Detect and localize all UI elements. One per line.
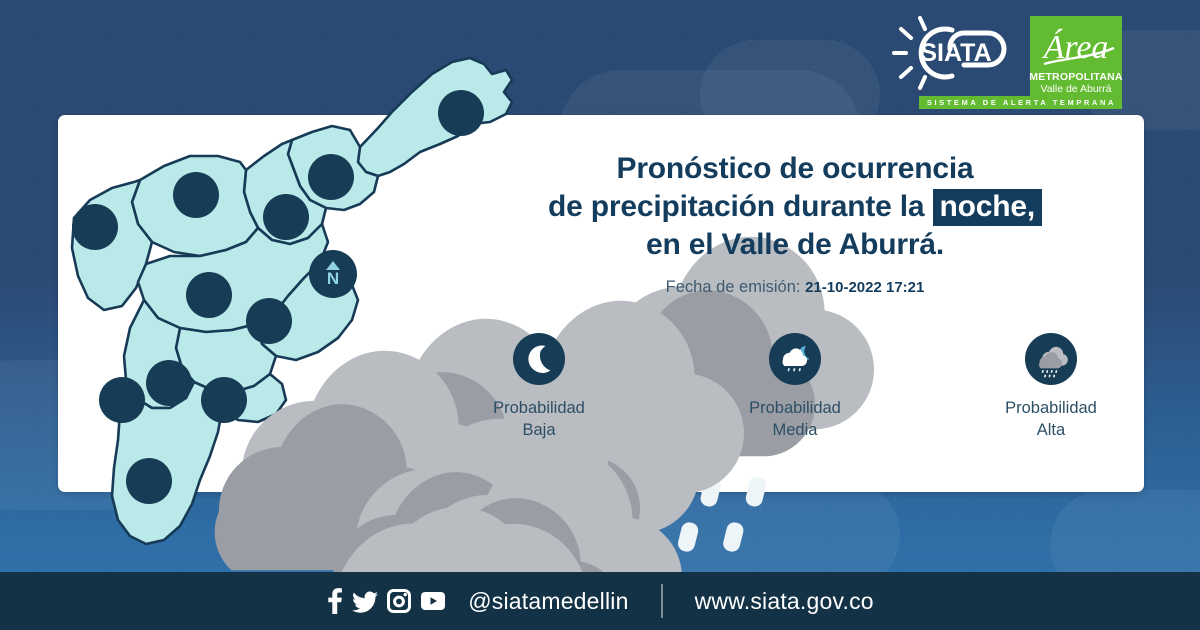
legend-label-alta: Probabilidad Alta — [1005, 397, 1097, 441]
map-marker-caldas[interactable] — [126, 458, 172, 504]
legend-label-alta-line1: Probabilidad — [1005, 397, 1097, 419]
cloud-heavy-rain-icon — [1025, 333, 1077, 385]
facebook-icon — [326, 588, 343, 614]
twitter-icon — [352, 588, 378, 614]
legend-icon-alta — [1025, 333, 1077, 385]
footer-content: @siatamedellin www.siata.gov.co — [326, 584, 874, 618]
area-script-icon: Área — [1030, 18, 1122, 72]
youtube-icon — [420, 591, 446, 611]
svg-text:Área: Área — [1042, 29, 1109, 66]
footer-bar: @siatamedellin www.siata.gov.co — [0, 572, 1200, 630]
area-logo-line1: METROPOLITANA — [1029, 72, 1122, 83]
footer-divider — [661, 584, 663, 618]
logo-group: SIATA Área METROPOLITANA Valle de Aburrá — [892, 16, 1122, 100]
emission-date: Fecha de emisión: 21-10-2022 17:21 — [470, 278, 1120, 297]
map-marker-envigado[interactable] — [246, 298, 292, 344]
svg-text:SIATA: SIATA — [920, 39, 991, 67]
legend-label-media: Probabilidad Media — [749, 397, 841, 441]
legend-icon-media — [769, 333, 821, 385]
legend-label-baja-line1: Probabilidad — [493, 397, 585, 419]
title-line-2-text: de precipitación durante la — [548, 190, 924, 223]
probability-legend: Probabilidad Baja Probabilidad Media — [470, 333, 1120, 441]
twitter-link[interactable] — [352, 588, 378, 614]
moon-icon — [513, 333, 565, 385]
legend-item-baja: Probabilidad Baja — [470, 333, 608, 441]
map-marker-barbosa[interactable] — [438, 90, 484, 136]
title-highlight-noche: noche, — [933, 189, 1042, 226]
instagram-link[interactable] — [387, 589, 411, 613]
emission-date-label: Fecha de emisión: — [666, 278, 801, 296]
facebook-link[interactable] — [326, 588, 343, 614]
area-metropolitana-logo: Área METROPOLITANA Valle de Aburrá — [1030, 16, 1122, 100]
instagram-icon — [387, 589, 411, 613]
compass-label: N — [327, 271, 339, 287]
map-marker-la-estrella[interactable] — [99, 377, 145, 423]
map-marker-medellin[interactable] — [186, 272, 232, 318]
forecast-panel: Pronóstico de ocurrencia de precipitació… — [470, 150, 1120, 441]
youtube-link[interactable] — [420, 591, 446, 611]
siata-logo-icon: SIATA — [892, 16, 1020, 90]
page-title: Pronóstico de ocurrencia de precipitació… — [470, 150, 1120, 264]
legend-label-baja-line2: Baja — [493, 419, 585, 441]
legend-item-media: Probabilidad Media — [726, 333, 864, 441]
title-line-2: de precipitación durante la noche, — [470, 188, 1120, 226]
title-line-1: Pronóstico de ocurrencia — [470, 150, 1120, 188]
social-links — [326, 588, 446, 614]
cloud-moon-rain-icon — [769, 333, 821, 385]
legend-icon-baja — [513, 333, 565, 385]
legend-label-baja: Probabilidad Baja — [493, 397, 585, 441]
area-logo-line2: Valle de Aburrá — [1040, 83, 1111, 95]
map-marker-oeste[interactable] — [72, 204, 118, 250]
siata-logo: SIATA — [892, 16, 1020, 90]
website-url[interactable]: www.siata.gov.co — [695, 588, 874, 615]
social-handle[interactable]: @siatamedellin — [468, 588, 628, 615]
emission-date-value: 21-10-2022 17:21 — [805, 279, 924, 296]
compass-rose: N — [309, 250, 357, 298]
legend-label-alta-line2: Alta — [1005, 419, 1097, 441]
siata-tagline: SISTEMA DE ALERTA TEMPRANA — [919, 96, 1122, 109]
title-line-3: en el Valle de Aburrá. — [470, 226, 1120, 264]
legend-item-alta: Probabilidad Alta — [982, 333, 1120, 441]
legend-label-media-line2: Media — [749, 419, 841, 441]
legend-label-media-line1: Probabilidad — [749, 397, 841, 419]
